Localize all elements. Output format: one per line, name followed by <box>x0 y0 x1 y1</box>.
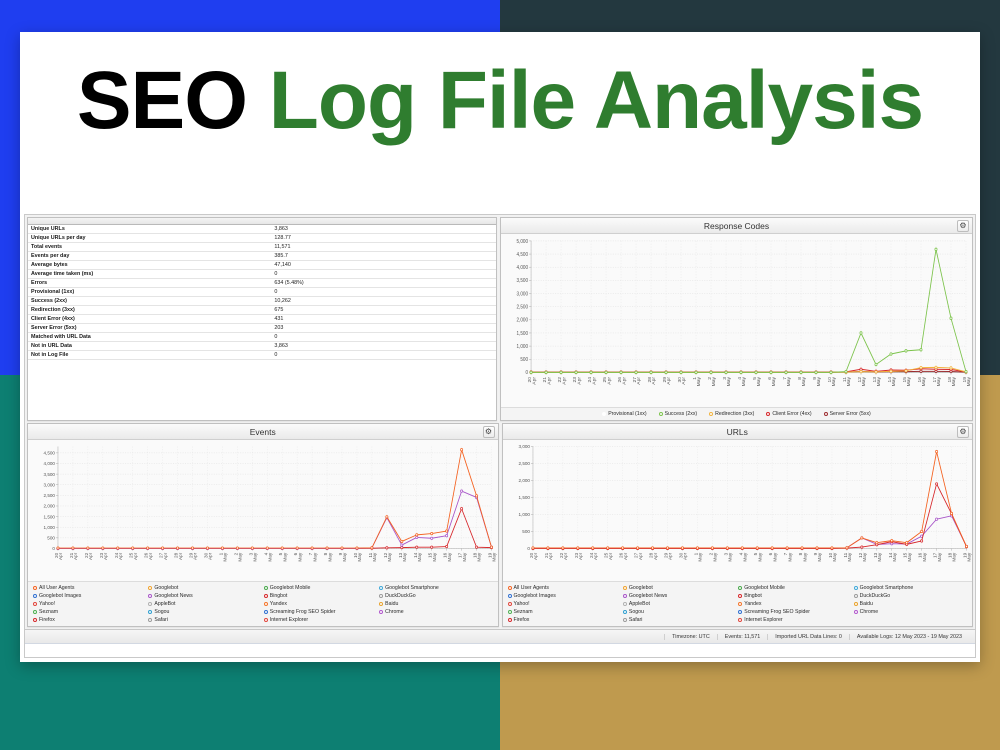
svg-text:2,000: 2,000 <box>517 317 529 323</box>
legend-marker-icon <box>854 594 858 598</box>
svg-text:May: May <box>966 376 971 386</box>
events-panel: Events ⚙ 05001,0001,5002,0002,5003,0003,… <box>27 423 499 627</box>
legend-label: Yahoo! <box>514 600 530 608</box>
stat-label: Provisional (1xx) <box>28 288 271 297</box>
legend-item[interactable]: Yahoo! <box>32 600 147 608</box>
urls-header: URLs ⚙ <box>503 424 973 440</box>
legend-item[interactable]: Screaming Frog SEO Spider <box>737 608 852 616</box>
legend-label: Success (2xx) <box>665 410 698 418</box>
legend-label: Googlebot Smartphone <box>385 584 439 592</box>
legend-marker-icon <box>623 618 627 622</box>
dashboard-row-top: Unique URLs3,863Unique URLs per day128.7… <box>27 217 973 421</box>
legend-marker-icon <box>264 610 268 614</box>
legend-marker-icon <box>508 602 512 606</box>
svg-text:500: 500 <box>522 529 530 535</box>
svg-text:3,500: 3,500 <box>517 278 529 284</box>
legend-label: Screaming Frog SEO Spider <box>744 608 810 616</box>
svg-text:May: May <box>223 552 228 562</box>
legend-item[interactable]: AppleBot <box>147 600 262 608</box>
svg-text:1,500: 1,500 <box>518 495 530 501</box>
svg-text:May: May <box>951 552 956 562</box>
svg-text:1,500: 1,500 <box>44 514 56 520</box>
legend-label: AppleBot <box>629 600 650 608</box>
svg-text:May: May <box>742 552 747 562</box>
legend-label: Googlebot Images <box>514 592 556 600</box>
legend-label: Googlebot News <box>154 592 192 600</box>
svg-text:1,000: 1,000 <box>44 525 56 531</box>
svg-text:May: May <box>757 552 762 562</box>
stat-label: Events per day <box>28 252 271 261</box>
svg-text:Apr: Apr <box>208 552 213 560</box>
legend-label: Chrome <box>860 608 878 616</box>
svg-text:Apr: Apr <box>163 552 168 560</box>
svg-text:May: May <box>357 552 362 562</box>
svg-text:Apr: Apr <box>607 377 612 385</box>
svg-text:May: May <box>891 376 896 386</box>
svg-text:5,000: 5,000 <box>517 238 529 244</box>
svg-text:Apr: Apr <box>608 552 613 560</box>
legend-marker-icon <box>659 412 663 416</box>
legend-item[interactable]: Chrome <box>853 608 968 616</box>
svg-text:May: May <box>387 552 392 562</box>
legend-marker-icon <box>264 602 268 606</box>
legend-marker-icon <box>738 602 742 606</box>
svg-text:Apr: Apr <box>623 552 628 560</box>
legend-marker-icon <box>264 594 268 598</box>
svg-text:May: May <box>936 376 941 386</box>
legend-item[interactable]: Googlebot <box>147 584 262 592</box>
table-row[interactable]: Unique URLs3,863 <box>28 225 496 234</box>
legend-item[interactable]: Firefox <box>507 616 622 624</box>
legend-item[interactable]: Chrome <box>378 608 493 616</box>
svg-text:May: May <box>817 376 822 386</box>
legend-marker-icon <box>379 610 383 614</box>
legend-label: Internet Explorer <box>270 616 308 624</box>
stat-label: Not in Log File <box>28 351 271 360</box>
svg-text:May: May <box>922 552 927 562</box>
svg-text:Apr: Apr <box>548 552 553 560</box>
stat-value: 0 <box>271 270 496 279</box>
svg-text:Apr: Apr <box>148 552 153 560</box>
svg-text:May: May <box>268 552 273 562</box>
legend-label: Googlebot Smartphone <box>860 584 914 592</box>
status-available-logs: Available Logs: 12 May 2023 - 19 May 202… <box>849 634 969 640</box>
svg-text:Apr: Apr <box>577 377 582 385</box>
svg-text:May: May <box>727 376 732 386</box>
slide-card: SEO Log File Analysis Unique URLs3,863Un… <box>20 32 980 662</box>
legend-item[interactable]: Yandex <box>737 600 852 608</box>
svg-text:Apr: Apr <box>547 377 552 385</box>
stat-value: 3,863 <box>271 225 496 234</box>
legend-marker-icon <box>738 618 742 622</box>
stat-label: Unique URLs per day <box>28 234 271 243</box>
legend-label: All User Agents <box>39 584 74 592</box>
stat-label: Total events <box>28 243 271 252</box>
table-row[interactable]: Total events11,571 <box>28 243 496 252</box>
svg-text:4,000: 4,000 <box>517 265 529 271</box>
svg-text:May: May <box>477 552 482 562</box>
legend-item[interactable]: Internet Explorer <box>737 616 852 624</box>
legend-item[interactable]: Googlebot Mobile <box>263 584 378 592</box>
legend-label: Firefox <box>514 616 530 624</box>
legend-item[interactable]: All User Agents <box>32 584 147 592</box>
stats-table: Unique URLs3,863Unique URLs per day128.7… <box>28 225 496 360</box>
legend-marker-icon <box>854 610 858 614</box>
legend-label: Baidu <box>860 600 873 608</box>
legend-item[interactable]: Baidu <box>378 600 493 608</box>
svg-text:May: May <box>712 376 717 386</box>
legend-marker-icon <box>148 594 152 598</box>
legend-item[interactable]: Safari <box>147 616 262 624</box>
response-codes-title: Response Codes <box>704 221 769 231</box>
stat-value: 203 <box>271 324 496 333</box>
legend-marker-icon <box>379 602 383 606</box>
svg-text:Apr: Apr <box>103 552 108 560</box>
legend-marker-icon <box>508 618 512 622</box>
svg-text:May: May <box>847 552 852 562</box>
svg-text:3,000: 3,000 <box>44 482 56 488</box>
legend-item[interactable]: Googlebot Images <box>32 592 147 600</box>
svg-text:2,500: 2,500 <box>44 493 56 499</box>
urls-panel: URLs ⚙ 05001,0001,5002,0002,5003,00020Ap… <box>502 423 974 627</box>
gear-icon[interactable]: ⚙ <box>957 220 969 232</box>
legend-item[interactable]: Yahoo! <box>507 600 622 608</box>
svg-text:May: May <box>951 376 956 386</box>
legend-label: Googlebot Mobile <box>270 584 311 592</box>
stat-value: 10,262 <box>271 297 496 306</box>
stat-value: 0 <box>271 351 496 360</box>
stat-label: Success (2xx) <box>28 297 271 306</box>
legend-marker-icon <box>623 586 627 590</box>
response-codes-header: Response Codes ⚙ <box>501 218 972 234</box>
svg-text:Apr: Apr <box>682 552 687 560</box>
stat-value: 0 <box>271 333 496 342</box>
status-events: Events: 11,571 <box>717 634 768 640</box>
legend-marker-icon <box>824 412 828 416</box>
stat-label: Average bytes <box>28 261 271 270</box>
legend-item[interactable]: Provisional (1xx) <box>601 410 647 418</box>
svg-text:May: May <box>877 552 882 562</box>
status-timezone: Timezone: UTC <box>664 634 717 640</box>
svg-text:Apr: Apr <box>622 377 627 385</box>
legend-item[interactable]: Sogou <box>622 608 737 616</box>
svg-text:May: May <box>342 552 347 562</box>
svg-text:Apr: Apr <box>652 552 657 560</box>
legend-item[interactable]: Firefox <box>32 616 147 624</box>
legend-marker-icon <box>33 602 37 606</box>
svg-text:Apr: Apr <box>667 552 672 560</box>
stat-label: Client Error (4xx) <box>28 315 271 324</box>
legend-item[interactable]: Seznam <box>32 608 147 616</box>
svg-text:May: May <box>966 552 971 562</box>
legend-marker-icon <box>738 594 742 598</box>
table-row[interactable]: Average time taken (ms)0 <box>28 270 496 279</box>
response-codes-legend: Provisional (1xx)Success (2xx)Redirectio… <box>501 407 972 420</box>
svg-text:May: May <box>787 552 792 562</box>
svg-text:Apr: Apr <box>652 377 657 385</box>
stat-value: 3,863 <box>271 342 496 351</box>
legend-label: Screaming Frog SEO Spider <box>270 608 336 616</box>
svg-text:May: May <box>712 552 717 562</box>
stat-value: 634 (5.48%) <box>271 279 496 288</box>
legend-marker-icon <box>148 610 152 614</box>
legend-label: Bingbot <box>270 592 288 600</box>
stat-label: Server Error (5xx) <box>28 324 271 333</box>
legend-label: AppleBot <box>154 600 175 608</box>
stats-empty-area <box>28 360 496 420</box>
gear-icon[interactable]: ⚙ <box>483 426 495 438</box>
table-row[interactable]: Matched with URL Data0 <box>28 333 496 342</box>
svg-text:0: 0 <box>525 370 528 376</box>
svg-text:2,000: 2,000 <box>44 504 56 510</box>
svg-text:4,000: 4,000 <box>44 461 56 467</box>
legend-marker-icon <box>854 602 858 606</box>
legend-label: Googlebot <box>154 584 178 592</box>
svg-text:Apr: Apr <box>58 552 63 560</box>
response-codes-chart[interactable]: 05001,0001,5002,0002,5003,0003,5004,0004… <box>501 234 972 407</box>
table-row[interactable]: Average bytes47,140 <box>28 261 496 270</box>
svg-text:1,000: 1,000 <box>518 512 530 518</box>
svg-text:May: May <box>832 376 837 386</box>
table-row[interactable]: Redirection (3xx)675 <box>28 306 496 315</box>
legend-marker-icon <box>379 586 383 590</box>
svg-text:May: May <box>906 376 911 386</box>
gear-icon[interactable]: ⚙ <box>957 426 969 438</box>
legend-label: Bingbot <box>744 592 762 600</box>
stat-value: 385.7 <box>271 252 496 261</box>
svg-text:May: May <box>727 552 732 562</box>
svg-text:May: May <box>936 552 941 562</box>
table-row[interactable]: Events per day385.7 <box>28 252 496 261</box>
title-seo: SEO <box>77 55 269 146</box>
legend-label: Sogou <box>629 608 644 616</box>
events-header: Events ⚙ <box>28 424 498 440</box>
stat-value: 128.77 <box>271 234 496 243</box>
legend-marker-icon <box>148 586 152 590</box>
legend-item[interactable]: DuckDuckGo <box>853 592 968 600</box>
stat-label: Not in URL Data <box>28 342 271 351</box>
svg-text:1,000: 1,000 <box>517 344 529 350</box>
legend-marker-icon <box>623 610 627 614</box>
legend-item[interactable]: Bingbot <box>263 592 378 600</box>
svg-text:0: 0 <box>527 546 530 552</box>
legend-marker-icon <box>508 594 512 598</box>
stat-value: 0 <box>271 288 496 297</box>
response-codes-panel: Response Codes ⚙ 05001,0001,5002,0002,50… <box>500 217 973 421</box>
svg-text:Apr: Apr <box>592 377 597 385</box>
svg-text:Apr: Apr <box>118 552 123 560</box>
stat-value: 431 <box>271 315 496 324</box>
legend-marker-icon <box>738 610 742 614</box>
legend-item[interactable]: Googlebot News <box>147 592 262 600</box>
legend-marker-icon <box>33 586 37 590</box>
stat-value: 11,571 <box>271 243 496 252</box>
svg-text:0: 0 <box>52 546 55 552</box>
svg-text:May: May <box>862 552 867 562</box>
legend-marker-icon <box>508 610 512 614</box>
legend-label: Seznam <box>514 608 533 616</box>
svg-text:May: May <box>447 552 452 562</box>
stat-label: Errors <box>28 279 271 288</box>
table-row[interactable]: Success (2xx)10,262 <box>28 297 496 306</box>
legend-marker-icon <box>148 618 152 622</box>
svg-text:May: May <box>921 376 926 386</box>
legend-label: Googlebot <box>629 584 653 592</box>
svg-text:May: May <box>462 552 467 562</box>
legend-marker-icon <box>148 602 152 606</box>
status-imported-url-data-lines: Imported URL Data Lines: 0 <box>767 634 849 640</box>
stat-label: Average time taken (ms) <box>28 270 271 279</box>
svg-text:Apr: Apr <box>637 552 642 560</box>
legend-label: Googlebot Images <box>39 592 81 600</box>
svg-text:500: 500 <box>47 535 55 541</box>
legend-label: Chrome <box>385 608 403 616</box>
urls-chart[interactable]: 05001,0001,5002,0002,5003,00020Apr21Apr2… <box>503 440 973 581</box>
legend-item[interactable]: AppleBot <box>622 600 737 608</box>
legend-item[interactable]: Googlebot Smartphone <box>378 584 493 592</box>
legend-item[interactable]: Googlebot <box>622 584 737 592</box>
svg-text:May: May <box>312 552 317 562</box>
svg-text:May: May <box>787 376 792 386</box>
legend-item[interactable]: Sogou <box>147 608 262 616</box>
svg-text:1,500: 1,500 <box>517 331 529 337</box>
page-title: SEO Log File Analysis <box>20 58 980 144</box>
svg-text:Apr: Apr <box>682 377 687 385</box>
legend-marker-icon <box>623 602 627 606</box>
status-bar: Timezone: UTC Events: 11,571 Imported UR… <box>25 629 975 643</box>
legend-marker-icon <box>33 594 37 598</box>
table-row[interactable]: Provisional (1xx)0 <box>28 288 496 297</box>
svg-text:Apr: Apr <box>533 552 538 560</box>
table-row[interactable]: Not in Log File0 <box>28 351 496 360</box>
legend-marker-icon <box>602 412 606 416</box>
table-row[interactable]: Server Error (5xx)203 <box>28 324 496 333</box>
svg-text:May: May <box>402 552 407 562</box>
legend-item[interactable]: Baidu <box>853 600 968 608</box>
svg-text:Apr: Apr <box>578 552 583 560</box>
legend-item[interactable]: Googlebot Mobile <box>737 584 852 592</box>
legend-item[interactable]: Safari <box>622 616 737 624</box>
legend-marker-icon <box>33 610 37 614</box>
svg-text:May: May <box>492 552 497 562</box>
legend-item[interactable]: Internet Explorer <box>263 616 378 624</box>
legend-label: Server Error (5xx) <box>830 410 871 418</box>
svg-text:May: May <box>817 552 822 562</box>
svg-text:May: May <box>772 376 777 386</box>
legend-label: Redirection (3xx) <box>715 410 754 418</box>
legend-marker-icon <box>379 594 383 598</box>
legend-marker-icon <box>709 412 713 416</box>
app-body: Unique URLs3,863Unique URLs per day128.7… <box>25 215 975 629</box>
svg-text:Apr: Apr <box>637 377 642 385</box>
legend-item[interactable]: All User Agents <box>507 584 622 592</box>
stats-table-header <box>28 218 496 225</box>
legend-marker-icon <box>738 586 742 590</box>
events-chart[interactable]: 05001,0001,5002,0002,5003,0003,5004,0004… <box>28 440 498 581</box>
svg-text:May: May <box>772 552 777 562</box>
legend-item[interactable]: DuckDuckGo <box>378 592 493 600</box>
legend-item[interactable]: Googlebot Images <box>507 592 622 600</box>
app-footer <box>25 643 975 657</box>
legend-item[interactable]: Screaming Frog SEO Spider <box>263 608 378 616</box>
legend-label: DuckDuckGo <box>385 592 416 600</box>
svg-text:3,000: 3,000 <box>518 444 530 450</box>
legend-item[interactable]: Bingbot <box>737 592 852 600</box>
svg-text:May: May <box>372 552 377 562</box>
svg-text:Apr: Apr <box>88 552 93 560</box>
legend-item[interactable]: Googlebot News <box>622 592 737 600</box>
svg-text:May: May <box>327 552 332 562</box>
legend-item[interactable]: Yandex <box>263 600 378 608</box>
svg-text:500: 500 <box>520 357 528 363</box>
svg-text:May: May <box>298 552 303 562</box>
svg-text:Apr: Apr <box>73 552 78 560</box>
svg-text:May: May <box>432 552 437 562</box>
legend-label: Sogou <box>154 608 169 616</box>
legend-item[interactable]: Success (2xx) <box>658 410 699 418</box>
overview-stats-panel: Unique URLs3,863Unique URLs per day128.7… <box>27 217 497 421</box>
legend-marker-icon <box>33 618 37 622</box>
svg-text:May: May <box>742 376 747 386</box>
legend-marker-icon <box>623 594 627 598</box>
title-log-file-analysis: Log File Analysis <box>269 55 923 146</box>
legend-label: Yahoo! <box>39 600 55 608</box>
legend-item[interactable]: Seznam <box>507 608 622 616</box>
stat-value: 47,140 <box>271 261 496 270</box>
table-row[interactable]: Not in URL Data3,863 <box>28 342 496 351</box>
svg-text:May: May <box>802 376 807 386</box>
svg-text:Apr: Apr <box>178 552 183 560</box>
svg-text:May: May <box>238 552 243 562</box>
table-row[interactable]: Client Error (4xx)431 <box>28 315 496 324</box>
svg-text:2,500: 2,500 <box>517 304 529 310</box>
svg-text:May: May <box>907 552 912 562</box>
legend-item[interactable]: Client Error (4xx) <box>765 410 812 418</box>
table-row[interactable]: Unique URLs per day128.77 <box>28 234 496 243</box>
legend-label: Safari <box>629 616 643 624</box>
stat-value: 675 <box>271 306 496 315</box>
legend-label: All User Agents <box>514 584 549 592</box>
svg-text:4,500: 4,500 <box>44 450 56 456</box>
legend-label: Googlebot Mobile <box>744 584 785 592</box>
legend-label: Yandex <box>270 600 287 608</box>
events-title: Events <box>250 427 276 437</box>
legend-marker-icon <box>264 586 268 590</box>
svg-text:3,000: 3,000 <box>517 291 529 297</box>
table-row[interactable]: Errors634 (5.48%) <box>28 279 496 288</box>
legend-label: Provisional (1xx) <box>608 410 646 418</box>
stat-label: Unique URLs <box>28 225 271 234</box>
legend-marker-icon <box>264 618 268 622</box>
legend-label: Baidu <box>385 600 398 608</box>
svg-text:Apr: Apr <box>532 377 537 385</box>
events-legend: All User AgentsGooglebotGooglebot Mobile… <box>28 581 498 626</box>
legend-item[interactable]: Googlebot Smartphone <box>853 584 968 592</box>
svg-text:May: May <box>417 552 422 562</box>
legend-item[interactable]: Server Error (5xx) <box>823 410 872 418</box>
svg-text:May: May <box>847 376 852 386</box>
legend-item[interactable]: Redirection (3xx) <box>708 410 755 418</box>
log-file-analyser-window: Unique URLs3,863Unique URLs per day128.7… <box>24 214 976 658</box>
svg-text:May: May <box>253 552 258 562</box>
legend-label: Googlebot News <box>629 592 667 600</box>
legend-marker-icon <box>854 586 858 590</box>
svg-text:May: May <box>892 552 897 562</box>
urls-title: URLs <box>727 427 748 437</box>
legend-label: Yandex <box>744 600 761 608</box>
stat-label: Matched with URL Data <box>28 333 271 342</box>
svg-text:3,500: 3,500 <box>44 472 56 478</box>
